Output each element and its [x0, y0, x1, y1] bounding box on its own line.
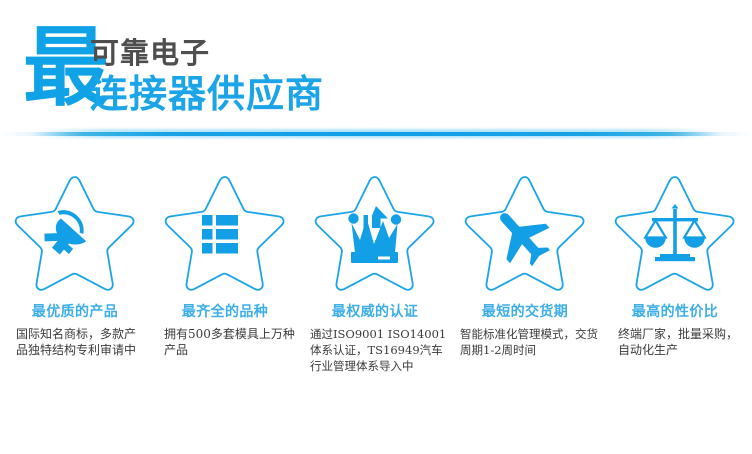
feature-item-4: 最短的交货期 智能标准化管理模式，交货周期1-2周时间	[450, 168, 600, 398]
list-grid-icon	[150, 168, 300, 296]
airplane-icon	[450, 168, 600, 296]
gradient-divider	[0, 129, 752, 138]
headline-line-bottom: 连接器供应商	[90, 72, 510, 116]
divider-bar	[0, 132, 752, 136]
feature-item-3: 最权威的认证 通过ISO9001 ISO14001体系认证，TS16949汽车行…	[300, 168, 450, 398]
headline-text-lines: 可靠电子 连接器供应商	[90, 36, 510, 116]
feature-title-5: 最高的性价比	[600, 304, 750, 320]
feature-desc-4: 智能标准化管理模式，交货周期1-2周时间	[450, 326, 600, 358]
feature-desc-3: 通过ISO9001 ISO14001体系认证，TS16949汽车行业管理体系导入…	[300, 326, 450, 374]
feature-item-5: 最高的性价比 终端厂家，批量采购，自动化生产	[600, 168, 750, 398]
balance-scale-icon	[600, 168, 750, 296]
feature-item-1: 最优质的产品 国际知名商标，多款产品独特结构专利审请中	[0, 168, 150, 398]
feature-desc-5: 终端厂家，批量采购，自动化生产	[600, 326, 750, 358]
feature-desc-1: 国际知名商标，多款产品独特结构专利审请中	[0, 326, 150, 358]
feature-title-1: 最优质的产品	[0, 304, 150, 320]
feature-row: 最优质的产品 国际知名商标，多款产品独特结构专利审请中 最齐全的品种 拥有500…	[0, 168, 752, 398]
crown-icon	[300, 168, 450, 296]
satellite-dish-icon	[0, 168, 150, 296]
feature-title-4: 最短的交货期	[450, 304, 600, 320]
feature-item-2: 最齐全的品种 拥有500多套模具上万种产品	[150, 168, 300, 398]
feature-title-3: 最权威的认证	[300, 304, 450, 320]
feature-desc-2: 拥有500多套模具上万种产品	[150, 326, 300, 358]
headline-line-top: 可靠电子	[90, 36, 510, 70]
headline-block: 最 可靠电子 连接器供应商	[0, 0, 752, 142]
feature-title-2: 最齐全的品种	[150, 304, 300, 320]
